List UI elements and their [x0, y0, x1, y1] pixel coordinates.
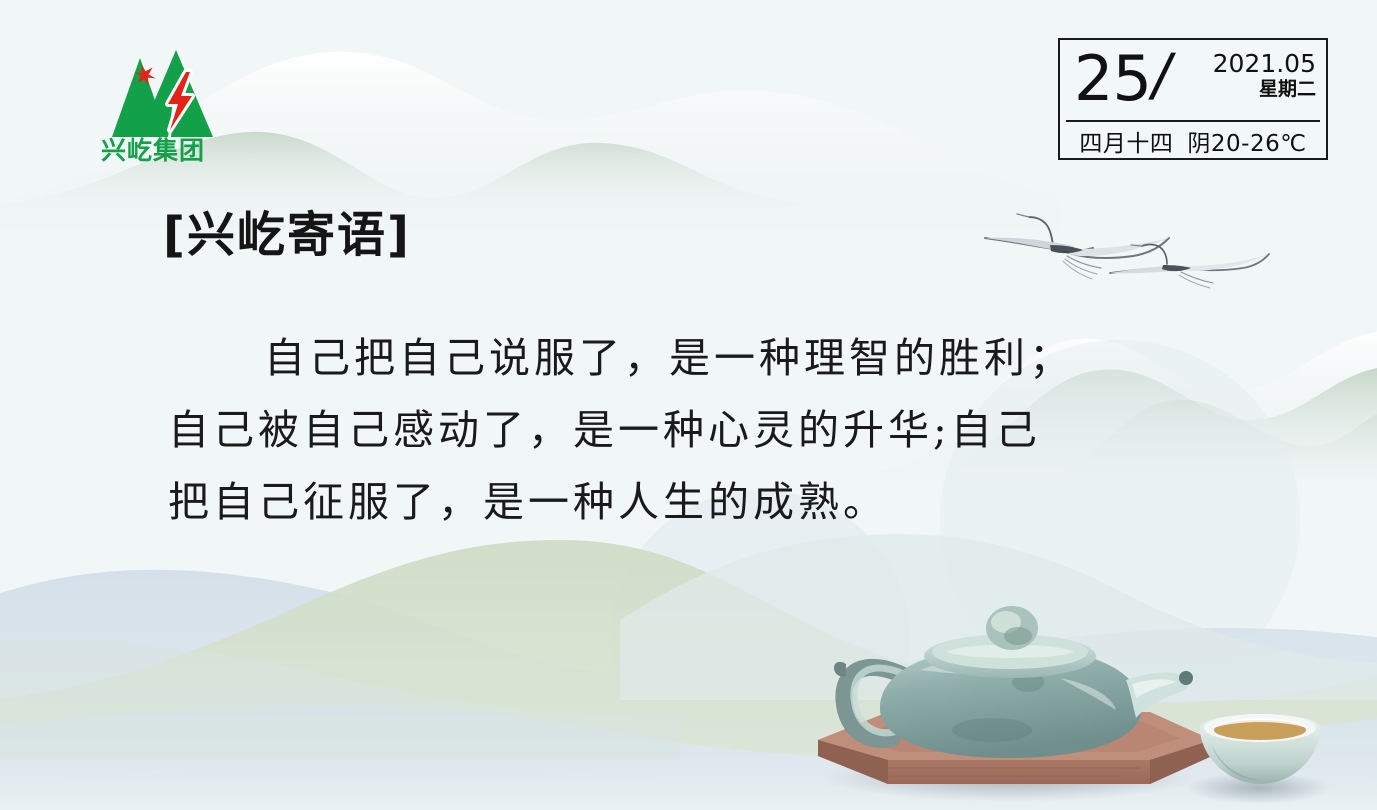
- lunar-date: 四月十四: [1079, 124, 1173, 158]
- quote-line-3: 把自己征服了，是一种人生的成熟。: [168, 466, 1198, 538]
- date-card-right: 2021.05 星期二: [1181, 50, 1326, 101]
- weather-info: 阴20-26℃: [1187, 124, 1306, 158]
- quote-body: 自己把自己说服了，是一种理智的胜利； 自己被自己感动了，是一种心灵的升华;自己 …: [168, 322, 1198, 538]
- date-weekday: 星期二: [1181, 77, 1316, 101]
- page-title: [兴屹寄语]: [163, 205, 411, 265]
- quote-line-2: 自己被自己感动了，是一种心灵的升华;自己: [168, 394, 1198, 466]
- logo-svg: 兴屹集团: [78, 32, 228, 162]
- poster-canvas: 兴屹集团: [0, 0, 1377, 810]
- company-logo[interactable]: 兴屹集团: [78, 32, 228, 162]
- teapot-illustration: [760, 560, 1377, 810]
- logo-wordmark: 兴屹集团: [101, 136, 205, 162]
- quote-line-1: 自己把自己说服了，是一种理智的胜利；: [168, 322, 1198, 394]
- date-card: 25 / 2021.05 星期二 四月十四 阴20-26℃: [1058, 38, 1328, 160]
- date-card-bottom: 四月十四 阴20-26℃: [1060, 122, 1326, 160]
- teacup: [1200, 714, 1320, 784]
- date-card-top: 25 / 2021.05 星期二: [1060, 40, 1326, 118]
- date-day: 25: [1074, 48, 1151, 110]
- date-year-month: 2021.05: [1181, 50, 1316, 77]
- flying-cranes-icon: [955, 198, 1285, 308]
- date-slash: /: [1146, 46, 1177, 108]
